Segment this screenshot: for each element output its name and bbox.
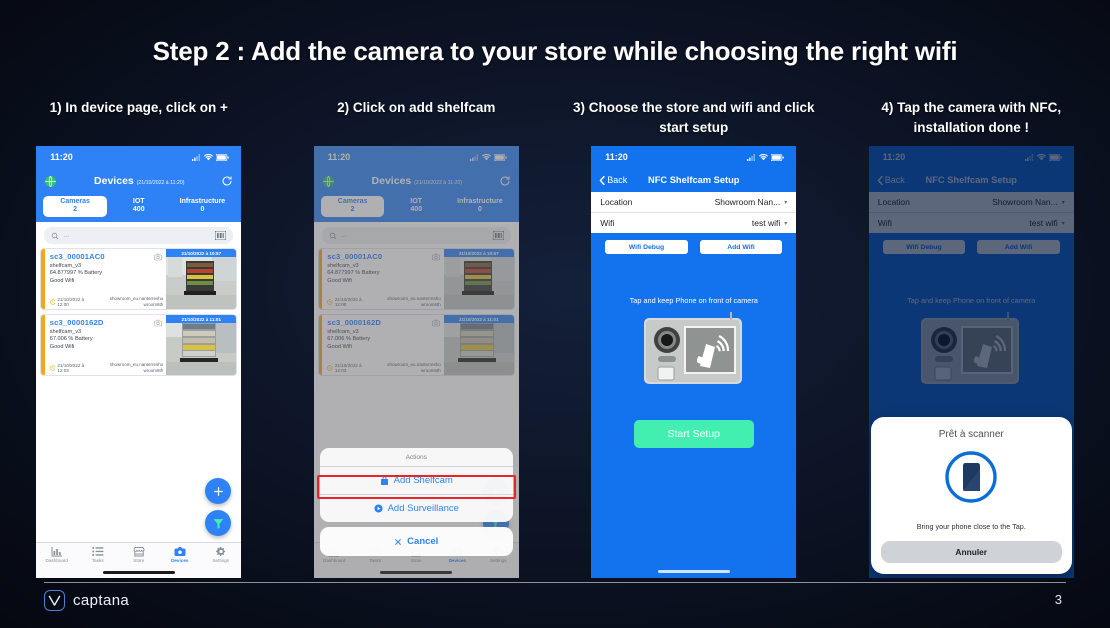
wifi-icon (204, 154, 213, 161)
plus-icon (212, 485, 225, 498)
captana-logo-icon (44, 590, 65, 611)
funnel-icon (212, 517, 225, 530)
device-id: sc3_0000162D (50, 318, 163, 327)
phone-screenshot-4: 11:20 Back NFC Shelfcam Setup (869, 146, 1074, 578)
device-list: sc3_00001AC0 shelfcam_v3 64.877997 % Bat… (36, 248, 241, 376)
list-icon (92, 546, 104, 557)
refresh-icon[interactable] (221, 175, 233, 187)
caret-down-icon: ▾ (784, 199, 787, 206)
device-timestamp: 21/10/2022 à 12:00 (50, 297, 94, 307)
action-sheet: Actions Add Shelfcam Add Surveillance Ca… (320, 448, 513, 556)
step-caption-3: 3) Choose the store and wifi and click s… (569, 98, 819, 140)
wifi-icon (759, 154, 768, 161)
page-title: Step 2 : Add the camera to your store wh… (0, 36, 1110, 67)
step-column-2: 2) Click on add shelfcam 11:20 Devices (… (278, 98, 556, 578)
device-battery: 64.877997 % Battery (50, 270, 163, 276)
footer-brand: captana (44, 590, 129, 611)
segment-infrastructure[interactable]: Infrastructure 0 (171, 196, 235, 217)
search-placeholder: ... (63, 232, 69, 239)
status-bar: 11:20 (591, 146, 796, 168)
location-label: Location (600, 197, 632, 207)
play-circle-icon (374, 504, 383, 513)
close-icon (394, 538, 402, 546)
device-card[interactable]: sc3_0000162D shelfcam_v3 67.006 % Batter… (40, 314, 237, 376)
filter-fab[interactable] (205, 510, 231, 536)
device-store: showroom_eu.nanterresho wroom6th (94, 296, 163, 307)
add-shelfcam-button[interactable]: Add Shelfcam (320, 467, 513, 494)
add-surveillance-label: Add Surveillance (388, 503, 459, 514)
store-icon (133, 546, 145, 557)
nfc-title: NFC Shelfcam Setup (591, 175, 796, 185)
navbar-subtitle: (21/10/2022 à 11:20) (137, 180, 185, 186)
camera-icon (154, 253, 162, 261)
bottom-tab-bar: Dashboard Tasks Store Devices (36, 542, 241, 578)
home-indicator (103, 571, 175, 574)
brand-name: captana (73, 592, 129, 609)
add-wifi-button[interactable]: Add Wifi (700, 240, 783, 254)
device-model: shelfcam_v3 (50, 263, 163, 269)
nfc-navbar: Back NFC Shelfcam Setup (591, 168, 796, 192)
phone-screenshot-2: 11:20 Devices (21/10/2022 à 11:20) (314, 146, 519, 578)
add-surveillance-button[interactable]: Add Surveillance (320, 494, 513, 522)
wifi-value: test wifi (752, 218, 780, 228)
nfc-setup-screen: 11:20 Back NFC Shelfcam Setup (591, 146, 796, 578)
search-row: ... (36, 222, 241, 248)
camera-icon (154, 319, 162, 327)
start-setup-button[interactable]: Start Setup (634, 420, 754, 448)
gear-icon (215, 546, 227, 557)
location-value: Showroom Nan... (715, 197, 781, 207)
tab-devices[interactable]: Devices (160, 546, 200, 563)
home-indicator (658, 570, 730, 573)
step-column-4: 4) Tap the camera with NFC, installation… (833, 98, 1110, 578)
tab-label: Devices (171, 558, 188, 563)
add-shelfcam-label: Add Shelfcam (394, 475, 453, 486)
phone-screenshot-3: 11:20 Back NFC Shelfcam Setup (591, 146, 796, 578)
cancel-label: Cancel (407, 536, 438, 547)
tab-tasks[interactable]: Tasks (78, 546, 118, 563)
device-wifi: Good Wifi (50, 344, 163, 350)
device-model: shelfcam_v3 (50, 329, 163, 335)
nfc-buttons: Wifi Debug Add Wifi (591, 233, 796, 260)
status-time: 11:20 (50, 152, 73, 162)
tab-settings[interactable]: Settings (201, 546, 241, 563)
status-bar: 11:20 (36, 146, 241, 168)
shelfcam-icon (380, 476, 389, 486)
navbar-title: Devices (21/10/2022 à 11:20) (94, 175, 184, 187)
action-sheet-group: Actions Add Shelfcam Add Surveillance (320, 448, 513, 522)
battery-icon (216, 154, 229, 161)
nfc-camera-illustration (638, 312, 750, 390)
wifi-field[interactable]: Wifi test wifi ▾ (591, 212, 796, 233)
status-icons (192, 154, 229, 161)
tab-label: Dashboard (46, 558, 68, 563)
status-icons (747, 154, 784, 161)
page-number: 3 (1055, 592, 1062, 607)
step-caption-1: 1) In device page, click on + (14, 98, 264, 140)
logo-v-glyph (48, 595, 61, 607)
clock-icon (50, 365, 56, 371)
device-wifi: Good Wifi (50, 278, 163, 284)
shelf-photo (166, 315, 236, 375)
device-id: sc3_00001AC0 (50, 252, 163, 261)
step-caption-4: 4) Tap the camera with NFC, installation… (846, 98, 1096, 140)
wifi-label: Wifi (600, 218, 614, 228)
caret-down-icon: ▾ (784, 220, 787, 227)
bar-chart-icon (51, 546, 63, 557)
shelf-photo (166, 249, 236, 309)
segmented-control: Cameras 2 IOT 400 Infrastructure 0 (36, 194, 241, 222)
clock-icon (50, 299, 56, 305)
cellular-bars-icon (192, 154, 201, 161)
step-caption-2: 2) Click on add shelfcam (291, 98, 541, 140)
wifi-debug-button[interactable]: Wifi Debug (605, 240, 688, 254)
location-field[interactable]: Location Showroom Nan... ▾ (591, 192, 796, 212)
device-timestamp: 21/10/2022 à 12:03 (50, 363, 94, 373)
cellular-bars-icon (747, 154, 756, 161)
phone-screenshot-1: 11:20 Devices (21/10/2022 à 11:20) (36, 146, 241, 578)
step-column-3: 3) Choose the store and wifi and click s… (555, 98, 833, 578)
device-thumbnail[interactable]: 21/10/2022 à 11:01 (166, 315, 236, 375)
nfc-hint: Tap and keep Phone on front of camera (591, 296, 796, 305)
battery-icon (771, 154, 784, 161)
globe-icon[interactable] (44, 175, 57, 188)
tab-label: Settings (212, 558, 229, 563)
device-store: showroom_eu.nanterresho wroom6th (94, 362, 163, 373)
nfc-fields: Location Showroom Nan... ▾ Wifi test wif… (591, 192, 796, 233)
camera-icon (174, 546, 186, 557)
tab-label: Store (133, 558, 144, 563)
search-input[interactable]: ... (44, 227, 233, 244)
steps-container: 1) In device page, click on + 11:20 De (0, 98, 1110, 578)
scan-dialog-title: Prêt à scanner (881, 429, 1062, 440)
footer-divider (44, 582, 1066, 583)
device-battery: 67.006 % Battery (50, 336, 163, 342)
tab-store[interactable]: Store (119, 546, 159, 563)
status-time: 11:20 (605, 152, 628, 162)
scan-cancel-button[interactable]: Annuler (881, 541, 1062, 563)
barcode-scan-icon[interactable] (215, 231, 226, 240)
thumbnail-timestamp: 21/10/2022 à 10:57 (166, 249, 236, 257)
app-navbar: Devices (21/10/2022 à 11:20) (36, 168, 241, 194)
action-sheet-title: Actions (320, 448, 513, 467)
scan-dialog-message: Bring your phone close to the Tap. (881, 522, 1062, 531)
cancel-button[interactable]: Cancel (320, 527, 513, 556)
tab-dashboard[interactable]: Dashboard (37, 546, 77, 563)
device-thumbnail[interactable]: 21/10/2022 à 10:57 (166, 249, 236, 309)
device-card[interactable]: sc3_00001AC0 shelfcam_v3 64.877997 % Bat… (40, 248, 237, 310)
add-device-fab[interactable] (205, 478, 231, 504)
nfc-phone-ring-icon (943, 449, 999, 505)
nfc-scan-dialog: Prêt à scanner Bring your phone close to… (871, 417, 1072, 574)
tab-label: Tasks (92, 558, 104, 563)
segment-cameras[interactable]: Cameras 2 (43, 196, 107, 217)
thumbnail-timestamp: 21/10/2022 à 11:01 (166, 315, 236, 323)
segment-iot[interactable]: IOT 400 (107, 196, 171, 217)
step-column-1: 1) In device page, click on + 11:20 De (0, 98, 278, 578)
search-icon (51, 232, 59, 240)
